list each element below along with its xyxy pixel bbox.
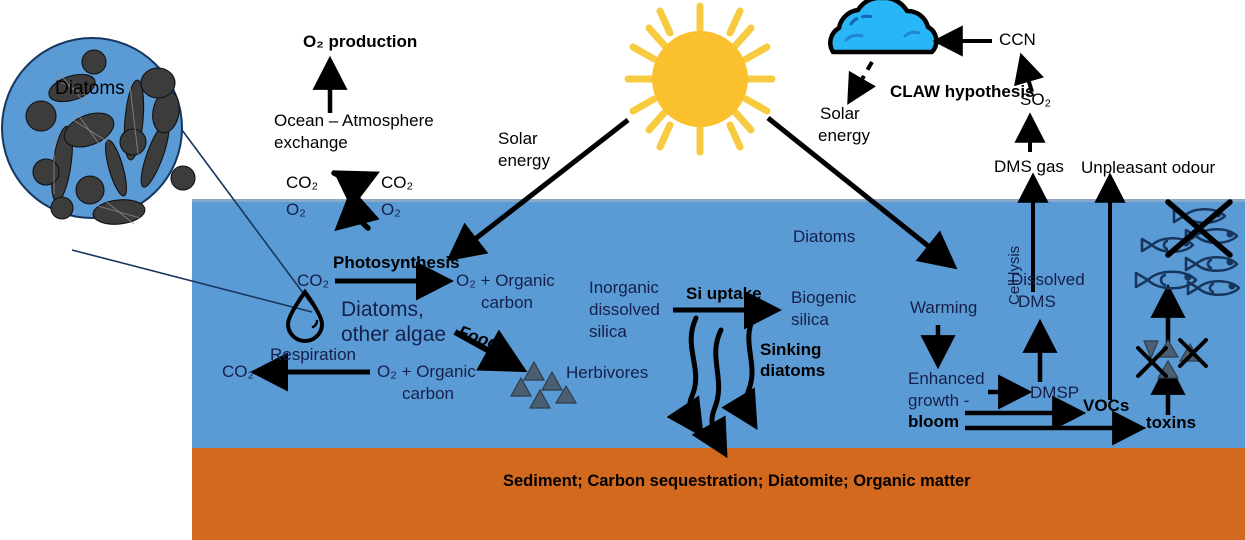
sinking-arrow-3: [746, 316, 754, 424]
sinking-diatoms-line1: Sinking: [760, 340, 821, 360]
dead-herbivore-triangles-icon: [1144, 340, 1200, 378]
fish-icons: [1136, 209, 1239, 295]
unpleasant-odour-label: Unpleasant odour: [1081, 158, 1215, 178]
si-uptake-label: Si uptake: [686, 284, 762, 304]
inorganic-dissolved-silica-line1: Inorganic: [589, 278, 659, 298]
inset-circle: [2, 38, 182, 218]
solar-energy-left-arrow: [452, 120, 628, 257]
ocean-atmosphere-exchange-line1: Ocean – Atmosphere: [274, 111, 434, 131]
ocean-diatoms-label: Diatoms: [793, 227, 855, 247]
enhanced-growth-line1: Enhanced: [908, 369, 985, 389]
enhanced-growth-line2: growth -: [908, 391, 969, 411]
sun-rays-icon: [628, 6, 772, 152]
sediment-label: Sediment; Carbon sequestration; Diatomit…: [503, 471, 971, 491]
o2-production-label: O₂ production: [303, 32, 417, 52]
ccn-label: CCN: [999, 30, 1036, 50]
fish-3: [1186, 257, 1237, 271]
food-label: Food: [455, 322, 501, 354]
sinking-arrow-2: [712, 330, 724, 452]
enhanced-growth-bloom-label: bloom: [908, 412, 959, 432]
claw-hypothesis-label: CLAW hypothesis: [890, 82, 1035, 102]
sediment-layer: [192, 448, 1245, 540]
diatoms-other-algae-line2: other algae: [341, 325, 446, 345]
fish-1: [1142, 238, 1193, 252]
co2-photosynthesis-label: CO₂: [297, 271, 329, 291]
solar-energy-right-line2: energy: [818, 126, 870, 146]
o2-organic-carbon-resp-line2: carbon: [402, 384, 454, 404]
fish-dead-2: [1186, 229, 1237, 243]
ocean-atmosphere-exchange-line2: exchange: [274, 133, 348, 153]
inset-diatoms-label: Diatoms: [55, 79, 125, 99]
dissolved-dms-line2: DMS: [1018, 292, 1056, 312]
herbivores-label: Herbivores: [566, 363, 648, 383]
biogenic-silica-line1: Biogenic: [791, 288, 856, 308]
toxins-label: toxins: [1146, 413, 1196, 433]
diatom-shapes-icon: [26, 50, 195, 227]
o2-in-label: O₂: [381, 200, 401, 220]
co2-into-ocean-arrow: [334, 173, 354, 226]
diagram-canvas: O₂ production Ocean – Atmosphere exchang…: [0, 0, 1245, 540]
co2-in-label: CO₂: [381, 173, 413, 193]
o2-out-label: O₂: [286, 200, 306, 220]
inorganic-dissolved-silica-line2: dissolved: [589, 300, 660, 320]
co2-respiration-label: CO₂: [222, 362, 254, 382]
photosynthesis-label: Photosynthesis: [333, 253, 460, 273]
solar-energy-left-line1: Solar: [498, 129, 538, 149]
inorganic-dissolved-silica-line3: silica: [589, 322, 627, 342]
fish-2: [1136, 272, 1196, 289]
dms-gas-label: DMS gas: [994, 157, 1064, 177]
cloud-solar-dashed-arrow: [850, 62, 872, 100]
sun-disc-icon: [652, 31, 748, 127]
herbivore-x-marks-icon: [1138, 340, 1206, 376]
sea-surface-line: [192, 199, 1245, 202]
respiration-label: Respiration: [270, 345, 356, 365]
dissolved-dms-line1: Dissolved: [1011, 270, 1085, 290]
o2-organic-carbon-line1: O₂ + Organic: [456, 271, 555, 291]
o2-organic-carbon-resp-line1: O₂ + Organic: [377, 362, 476, 382]
fish-x-mark-icon: [1168, 202, 1230, 255]
fish-dead-1: [1174, 209, 1225, 223]
dmsp-label: DMSP: [1030, 383, 1079, 403]
vocs-label: VOCs: [1083, 396, 1129, 416]
o2-organic-carbon-line2: carbon: [481, 293, 533, 313]
water-droplet-icon: [288, 292, 322, 341]
solar-energy-right-line1: Solar: [820, 104, 860, 124]
fish-4: [1188, 281, 1239, 295]
diatoms-other-algae-line1: Diatoms,: [341, 300, 424, 320]
sinking-arrow-1: [690, 318, 700, 432]
warming-label: Warming: [910, 298, 977, 318]
sinking-diatoms-line2: diatoms: [760, 361, 825, 381]
so2-label: SO₂: [1020, 90, 1051, 110]
co2-out-label: CO₂: [286, 173, 318, 193]
biogenic-silica-line2: silica: [791, 310, 829, 330]
solar-energy-left-line2: energy: [498, 151, 550, 171]
cloud-icon: [830, 0, 936, 52]
o2-out-of-ocean-arrow: [354, 175, 373, 228]
inset-connector-bottom: [72, 250, 312, 312]
